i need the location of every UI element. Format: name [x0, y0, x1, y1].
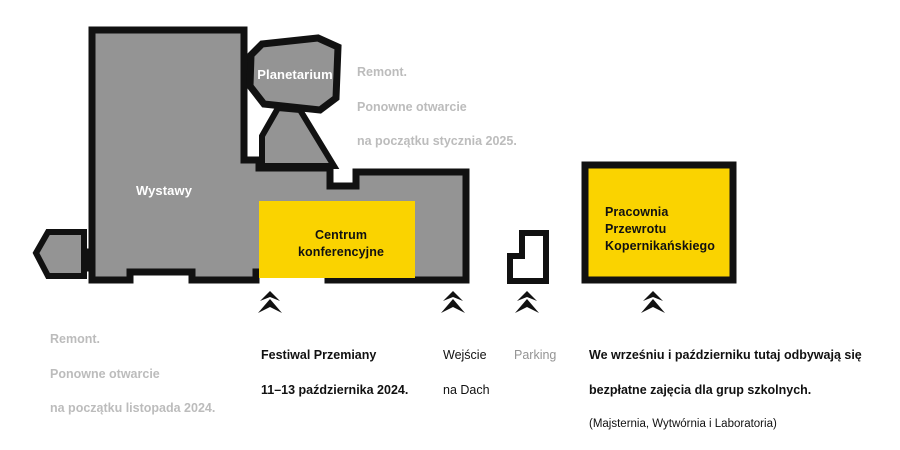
marker-festiwal[interactable] [258, 291, 282, 313]
annotation-wystawy-remont: Remont. Ponowne otwarcie na początku lis… [50, 314, 270, 435]
annotation-festiwal-line2: 11–13 października 2024. [261, 382, 441, 399]
room-label-pracownia-line3: Kopernikańskiego [605, 239, 715, 253]
room-label-pracownia-line1: Pracownia [605, 205, 669, 219]
double-chevron-up-icon [515, 291, 539, 313]
annotation-planetarium-remont-line3: na początku stycznia 2025. [357, 133, 567, 150]
double-chevron-up-icon [641, 291, 665, 313]
double-chevron-up-icon [441, 291, 465, 313]
annotation-wystawy-remont-line1: Remont. [50, 331, 270, 348]
annotation-wystawy-remont-line2: Ponowne otwarcie [50, 366, 270, 383]
marker-wejscie-na-dach[interactable] [441, 291, 465, 313]
annotation-wystawy-remont-line3: na początku listopada 2024. [50, 400, 270, 417]
annotation-planetarium-remont-line2: Ponowne otwarcie [357, 99, 567, 116]
annotation-parking: Parking [514, 330, 594, 382]
annotation-ppk-line1: We wrześniu i październiku tutaj odbywaj… [589, 347, 889, 364]
room-side-entrance-shape[interactable] [36, 232, 84, 276]
room-label-planetarium: Planetarium [257, 67, 333, 82]
planetarium-corridor-shape[interactable] [262, 108, 334, 166]
annotation-wejscie-na-dach: Wejście na Dach [443, 330, 513, 416]
annotation-festiwal-przemiany: Festiwal Przemiany 11–13 października 20… [261, 330, 441, 416]
room-parking-shape[interactable] [510, 233, 546, 281]
floor-plan-map: Wystawy Planetarium Centrum konferencyjn… [0, 0, 900, 400]
room-label-centrum-konferencyjne-line1: Centrum [315, 228, 367, 242]
annotation-pracownia-zajecia: We wrześniu i październiku tutaj odbywaj… [589, 330, 889, 450]
double-chevron-up-icon [258, 291, 282, 313]
annotation-ppk-line2: bezpłatne zajęcia dla grup szkolnych. [589, 382, 889, 399]
room-label-pracownia-line2: Przewrotu [605, 222, 666, 236]
annotation-planetarium-remont-line1: Remont. [357, 64, 567, 81]
room-label-wystawy: Wystawy [136, 183, 193, 198]
marker-parking[interactable] [515, 291, 539, 313]
marker-pracownia[interactable] [641, 291, 665, 313]
annotation-wejscie-line2: na Dach [443, 382, 513, 399]
room-label-centrum-konferencyjne-line2: konferencyjne [298, 245, 384, 259]
annotation-festiwal-line1: Festiwal Przemiany [261, 347, 441, 364]
annotation-ppk-subline: (Majsternia, Wytwórnia i Laboratoria) [589, 417, 889, 433]
annotation-wejscie-line1: Wejście [443, 347, 513, 364]
annotation-parking-line1: Parking [514, 347, 594, 364]
annotation-planetarium-remont: Remont. Ponowne otwarcie na początku sty… [357, 47, 567, 168]
